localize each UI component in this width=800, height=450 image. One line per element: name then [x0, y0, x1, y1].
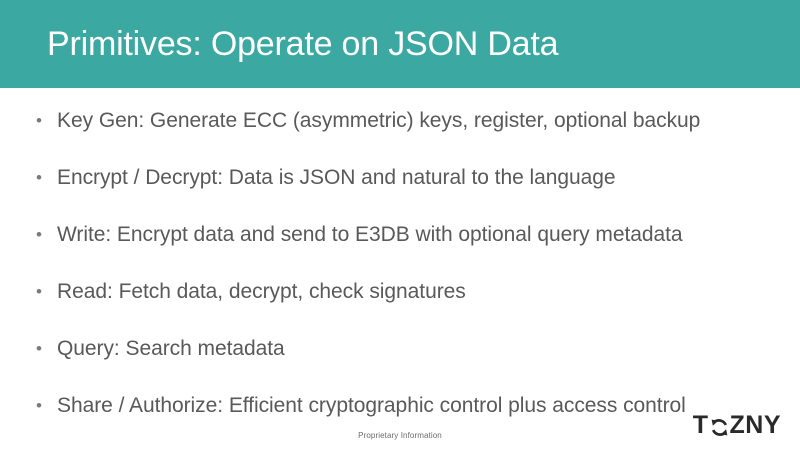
- logo-text-after: ZNY: [730, 411, 782, 439]
- list-item-label: Read: Fetch data, decrypt, check signatu…: [57, 277, 788, 307]
- list-item: • Write: Encrypt data and send to E3DB w…: [32, 220, 788, 250]
- list-item-label: Encrypt / Decrypt: Data is JSON and natu…: [57, 163, 788, 193]
- list-item: • Share / Authorize: Efficient cryptogra…: [32, 391, 788, 421]
- bullet-marker-icon: •: [32, 220, 57, 250]
- bullet-marker-icon: •: [32, 106, 57, 136]
- list-item: • Query: Search metadata: [32, 334, 788, 364]
- list-item: • Encrypt / Decrypt: Data is JSON and na…: [32, 163, 788, 193]
- bullet-marker-icon: •: [32, 163, 57, 193]
- logo-text-before: T: [693, 411, 709, 439]
- list-item: • Key Gen: Generate ECC (asymmetric) key…: [32, 106, 788, 136]
- list-item-label: Key Gen: Generate ECC (asymmetric) keys,…: [57, 106, 788, 136]
- cycle-arrows-icon: [709, 416, 730, 437]
- footer-note: Proprietary Information: [0, 430, 800, 442]
- list-item: • Read: Fetch data, decrypt, check signa…: [32, 277, 788, 307]
- list-item-label: Write: Encrypt data and send to E3DB wit…: [57, 220, 788, 250]
- slide-title: Primitives: Operate on JSON Data: [47, 20, 767, 68]
- list-item-label: Share / Authorize: Efficient cryptograph…: [57, 391, 788, 421]
- title-band: Primitives: Operate on JSON Data: [0, 0, 800, 88]
- brand-logo: T ZNY: [693, 411, 781, 439]
- slide-canvas: Primitives: Operate on JSON Data • Key G…: [0, 0, 800, 450]
- bullet-marker-icon: •: [32, 277, 57, 307]
- bullet-marker-icon: •: [32, 334, 57, 364]
- bullet-list: • Key Gen: Generate ECC (asymmetric) key…: [0, 88, 800, 408]
- logo-wordmark: T ZNY: [693, 411, 781, 439]
- bullet-marker-icon: •: [32, 391, 57, 421]
- list-item-label: Query: Search metadata: [57, 334, 788, 364]
